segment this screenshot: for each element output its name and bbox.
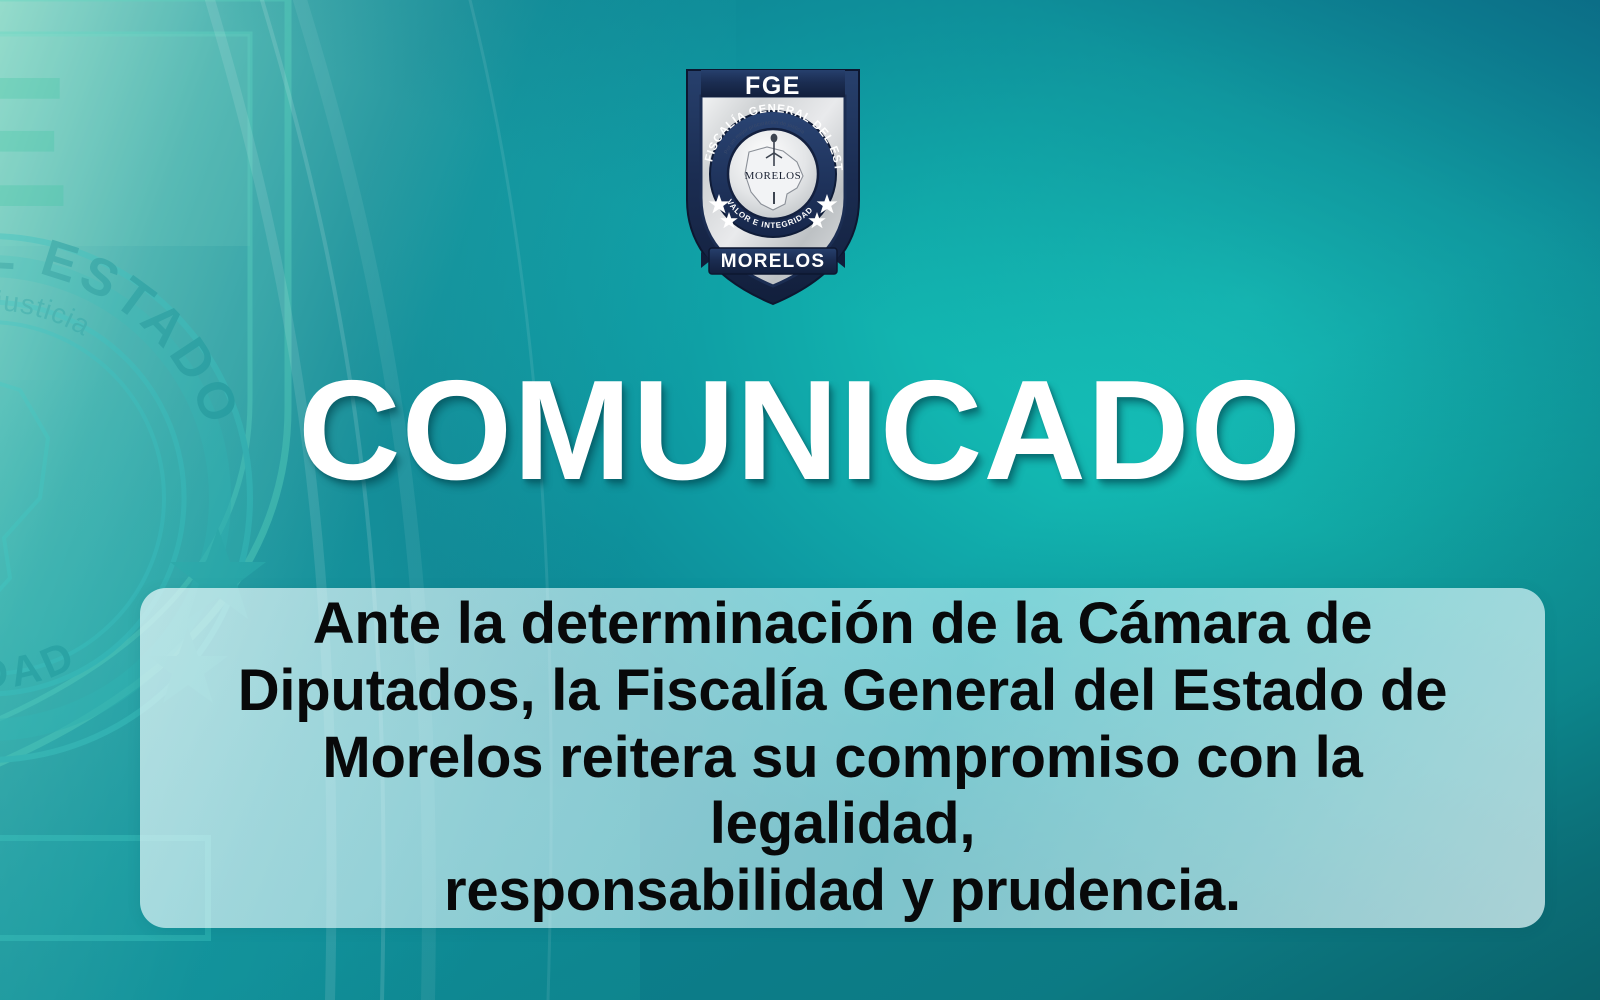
badge-seal-center-label: MORELOS — [745, 170, 802, 182]
fge-morelos-badge: FGE FISCALÍA GENERAL DEL ESTADO Por un m… — [675, 52, 871, 317]
communicado-graphic: GE ERAL DEL ESTADO procuración de justic… — [0, 0, 1600, 1000]
page-title: COMUNICADO — [0, 360, 1600, 502]
badge-top-banner: FGE — [745, 72, 801, 100]
statement-line: Morelos reitera su compromiso con la leg… — [188, 725, 1497, 859]
watermark-top-banner: GE — [0, 39, 75, 246]
statement-line: Diputados, la Fiscalía General del Estad… — [188, 658, 1497, 725]
statement-panel: Ante la determinación de la Cámara de Di… — [140, 588, 1545, 928]
statement-text: Ante la determinación de la Cámara de Di… — [140, 591, 1545, 926]
statement-line: responsabilidad y prudencia. — [188, 858, 1497, 925]
statement-line: Ante la determinación de la Cámara de — [188, 591, 1497, 658]
badge-bottom-banner: MORELOS — [721, 251, 825, 272]
